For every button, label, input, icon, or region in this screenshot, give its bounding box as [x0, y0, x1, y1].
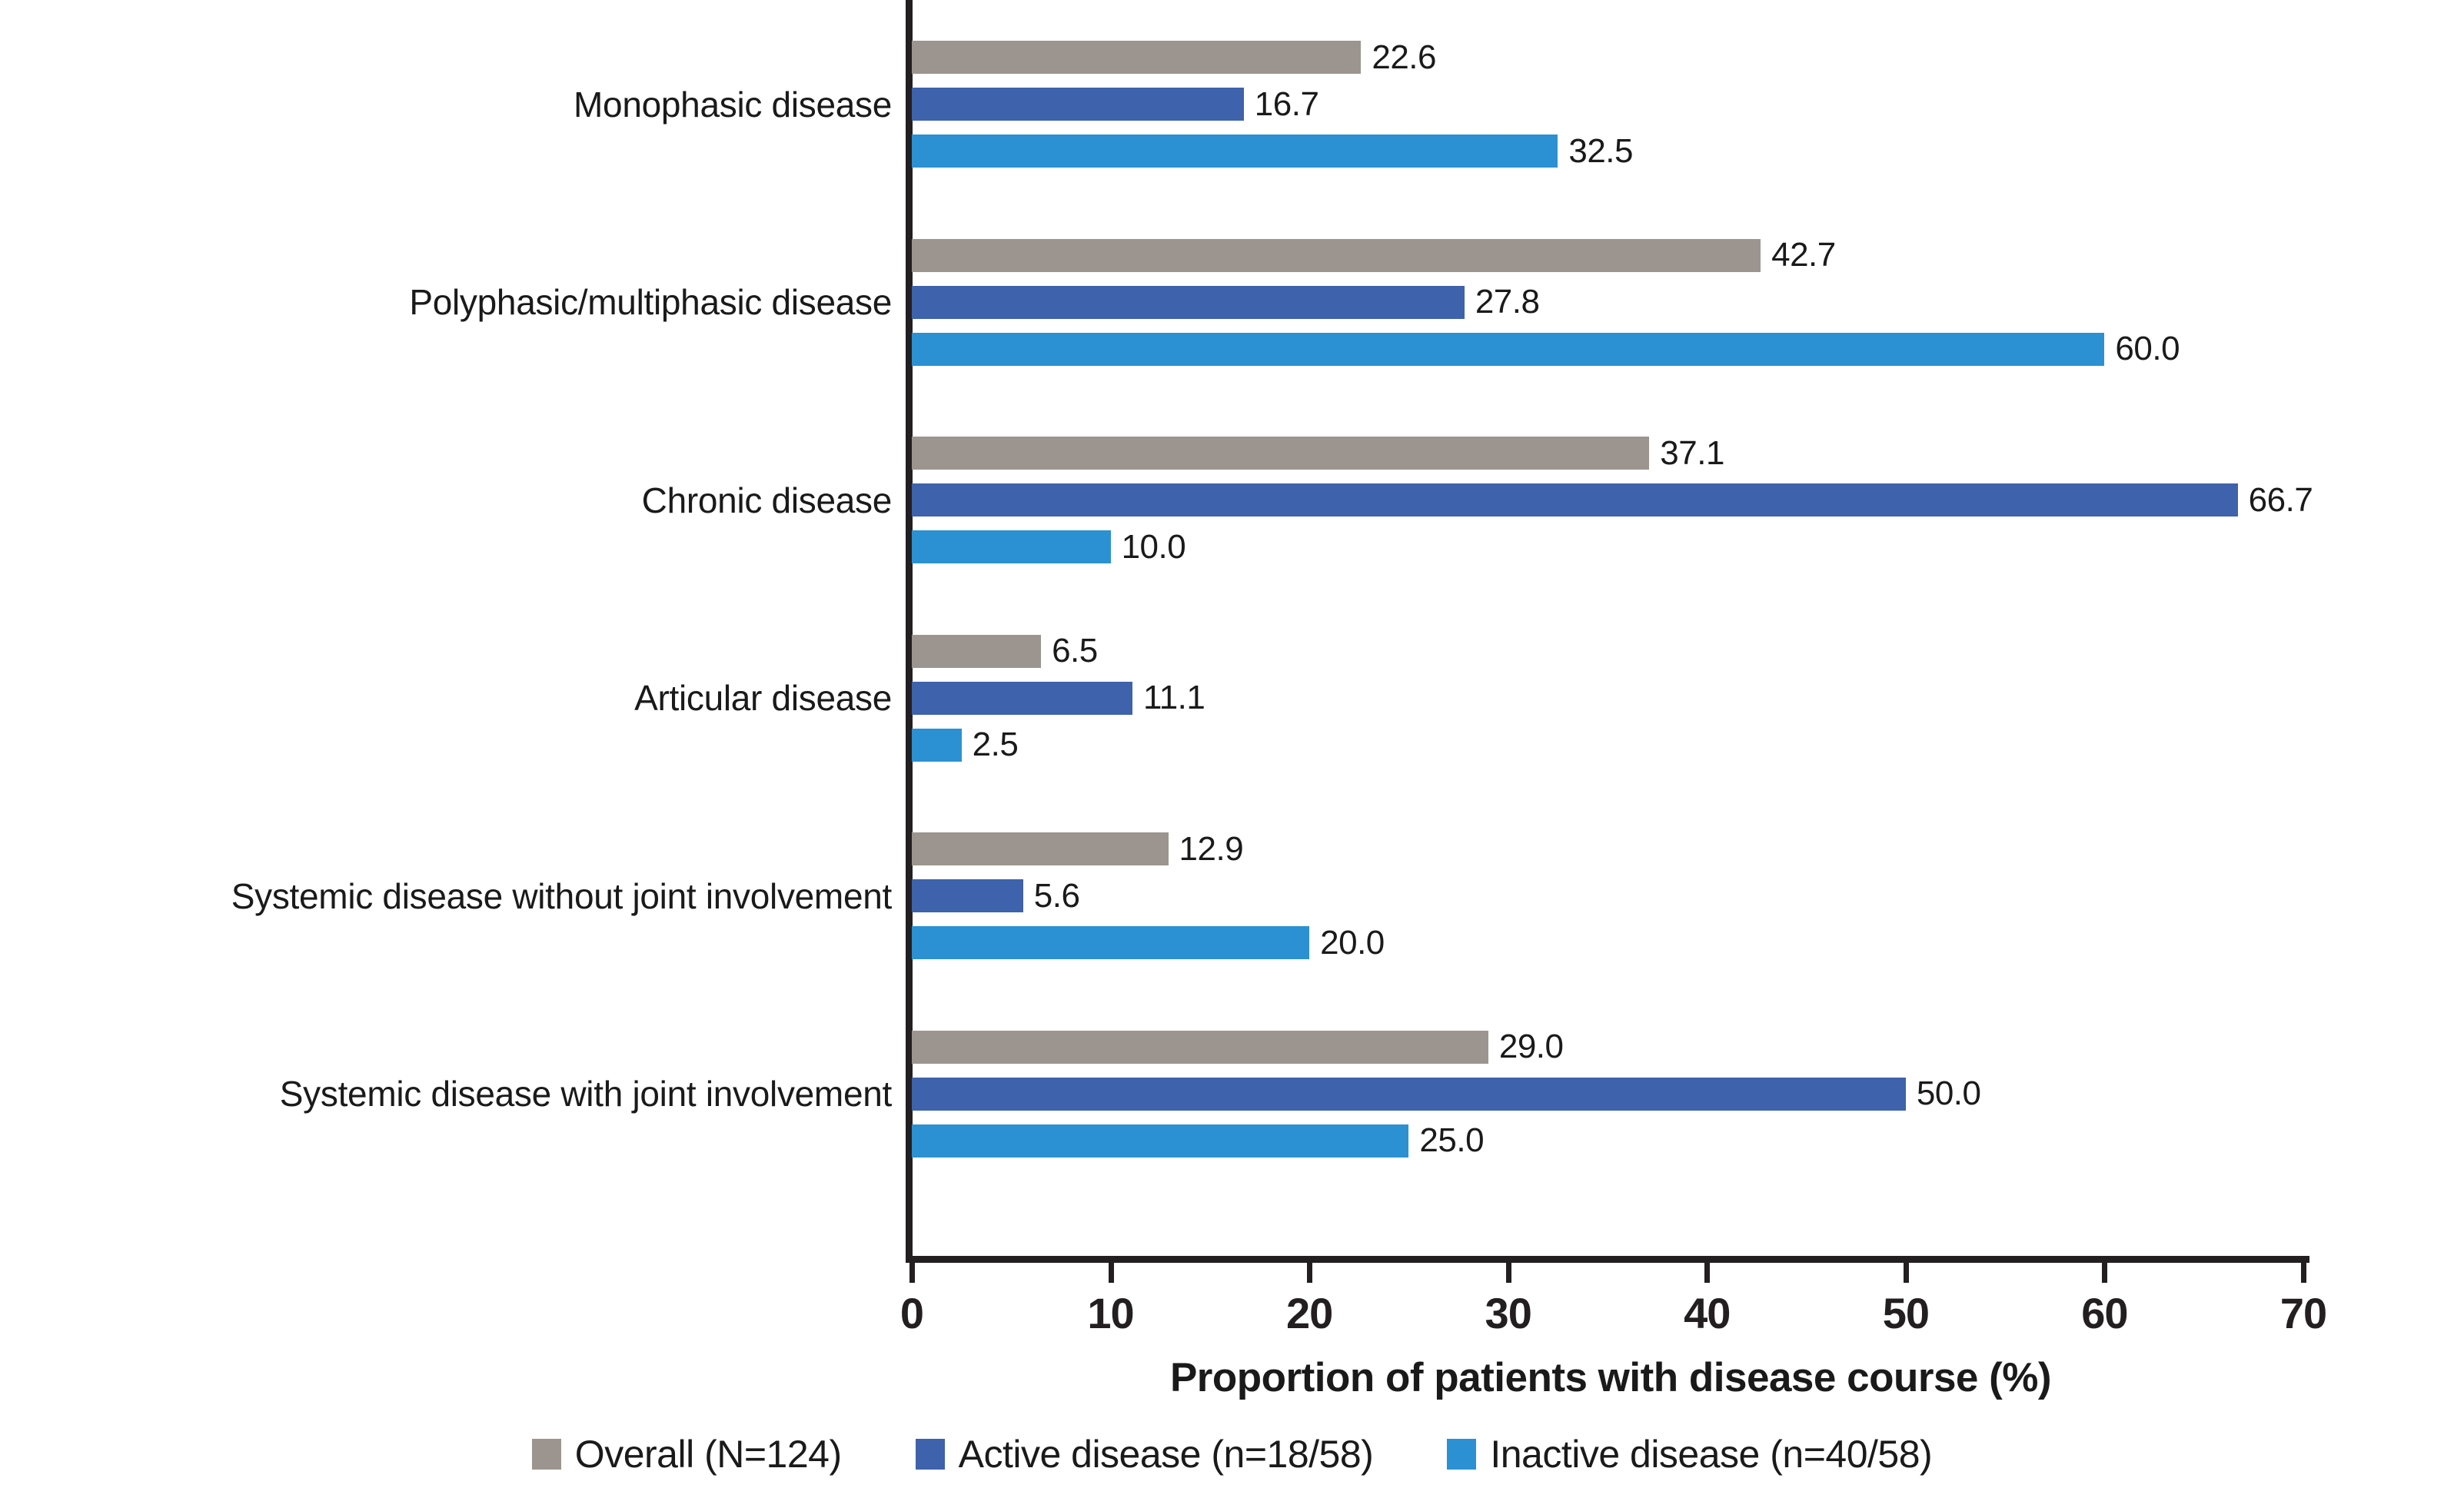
bar-value-label: 16.7	[1255, 85, 1319, 124]
legend-label: Active disease (n=18/58)	[959, 1432, 1374, 1476]
bar-value-label: 6.5	[1052, 632, 1098, 670]
x-axis-tick	[1704, 1263, 1710, 1283]
bar	[912, 41, 1361, 74]
bar-value-label: 27.8	[1475, 283, 1540, 321]
x-axis-tick	[2102, 1263, 2107, 1283]
bar	[912, 483, 2238, 516]
legend-label: Overall (N=124)	[575, 1432, 842, 1476]
x-axis-tick	[1307, 1263, 1312, 1283]
category-label: Monophasic disease	[8, 84, 892, 125]
bar	[912, 926, 1309, 959]
bar	[912, 530, 1111, 563]
bar	[912, 1078, 1906, 1111]
legend-item[interactable]: Inactive disease (n=40/58)	[1447, 1432, 1932, 1476]
bar	[912, 239, 1761, 272]
y-axis-line	[906, 0, 913, 1261]
bar-value-label: 60.0	[2115, 330, 2180, 368]
bar	[912, 286, 1465, 319]
bar-value-label: 25.0	[1419, 1121, 1484, 1160]
bar-chart: 010203040506070 Monophasic diseasePolyph…	[0, 0, 2464, 1498]
x-axis-tick	[1506, 1263, 1511, 1283]
x-axis-tick-label: 40	[1684, 1288, 1730, 1338]
category-label: Chronic disease	[8, 480, 892, 521]
bar	[912, 832, 1169, 865]
bar-value-label: 66.7	[2249, 481, 2313, 520]
bar-value-label: 22.6	[1372, 38, 1436, 77]
bar-value-label: 5.6	[1034, 877, 1080, 915]
chart-legend: Overall (N=124)Active disease (n=18/58)I…	[0, 1431, 2464, 1477]
bar-value-label: 20.0	[1320, 924, 1385, 962]
x-axis-tick-label: 0	[900, 1288, 923, 1338]
bar	[912, 135, 1558, 168]
bar-value-label: 11.1	[1143, 679, 1205, 717]
bar-value-label: 2.5	[973, 726, 1019, 764]
bar	[912, 1124, 1408, 1158]
bar-value-label: 32.5	[1568, 132, 1633, 171]
category-label: Polyphasic/multiphasic disease	[8, 281, 892, 323]
bar	[912, 635, 1041, 668]
bar	[912, 88, 1244, 121]
x-axis-tick-label: 10	[1087, 1288, 1133, 1338]
x-axis-tick-label: 60	[2081, 1288, 2127, 1338]
x-axis-tick	[1904, 1263, 1909, 1283]
legend-item[interactable]: Overall (N=124)	[532, 1432, 842, 1476]
bar-value-label: 10.0	[1122, 528, 1186, 566]
x-axis-title: Proportion of patients with disease cour…	[912, 1354, 2309, 1401]
x-axis-line	[906, 1256, 2309, 1263]
x-axis-tick	[2301, 1263, 2306, 1283]
x-axis-tick-label: 20	[1286, 1288, 1332, 1338]
bar	[912, 682, 1132, 715]
bar-value-label: 50.0	[1917, 1075, 1981, 1113]
x-axis-tick-label: 70	[2280, 1288, 2326, 1338]
bar	[912, 333, 2104, 366]
bar	[912, 1031, 1488, 1064]
legend-swatch-icon	[532, 1439, 561, 1470]
category-label: Systemic disease with joint involvement	[8, 1073, 892, 1114]
x-axis-tick-label: 50	[1883, 1288, 1929, 1338]
bar-value-label: 29.0	[1499, 1028, 1564, 1066]
x-axis-tick-label: 30	[1485, 1288, 1531, 1338]
bar-value-label: 42.7	[1771, 236, 1836, 274]
legend-label: Inactive disease (n=40/58)	[1490, 1432, 1932, 1476]
bar-value-label: 12.9	[1179, 830, 1244, 869]
category-label: Articular disease	[8, 677, 892, 719]
bar-value-label: 37.1	[1660, 434, 1724, 473]
bar	[912, 437, 1649, 470]
legend-item[interactable]: Active disease (n=18/58)	[916, 1432, 1374, 1476]
legend-swatch-icon	[1447, 1439, 1476, 1470]
x-axis-tick	[909, 1263, 915, 1283]
category-label: Systemic disease without joint involveme…	[8, 875, 892, 917]
plot-area: 010203040506070 Monophasic diseasePolyph…	[0, 0, 2464, 1261]
legend-swatch-icon	[916, 1439, 945, 1470]
bar	[912, 879, 1023, 912]
bar	[912, 729, 962, 762]
x-axis-tick	[1109, 1263, 1114, 1283]
